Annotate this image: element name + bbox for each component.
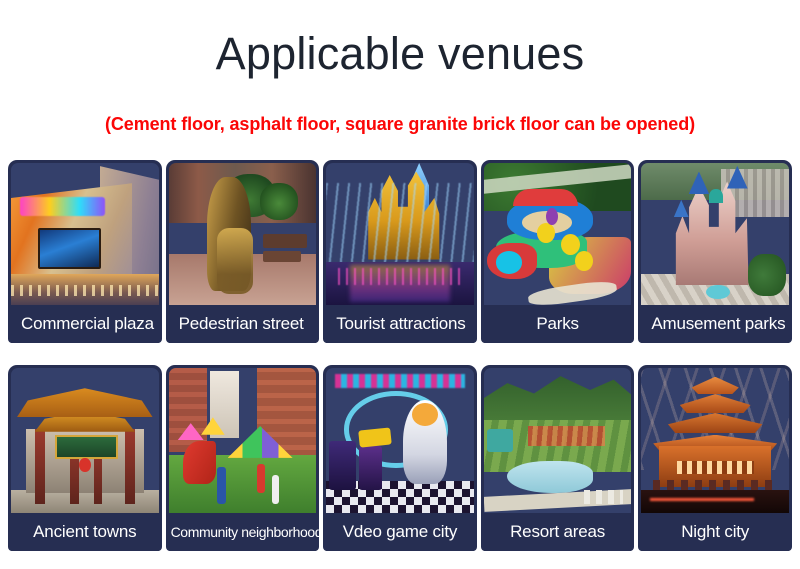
venue-label: Pedestrian street <box>169 305 317 343</box>
venue-card-video-game-city[interactable]: Vdeo game city <box>323 365 477 551</box>
venue-card-amusement-parks[interactable]: Amusement parks <box>638 160 792 343</box>
venue-label: Ancient towns <box>11 513 159 551</box>
venue-card-night-city[interactable]: Night city <box>638 365 792 551</box>
video-game-city-image <box>326 368 474 513</box>
resort-areas-image <box>484 368 632 513</box>
amusement-parks-image <box>641 163 789 305</box>
night-city-image <box>641 368 789 513</box>
venue-grid: Commercial plaza Pedestrian street Touri… <box>8 160 792 551</box>
venue-label: Night city <box>641 513 789 551</box>
venue-label: Vdeo game city <box>326 513 474 551</box>
parks-image <box>484 163 632 305</box>
ancient-towns-image <box>11 368 159 513</box>
venue-label: Amusement parks <box>641 305 789 343</box>
venue-card-parks[interactable]: Parks <box>481 160 635 343</box>
tourist-attractions-image <box>326 163 474 305</box>
venue-card-tourist-attractions[interactable]: Tourist attractions <box>323 160 477 343</box>
venue-label: Tourist attractions <box>326 305 474 343</box>
venue-label: Commercial plaza <box>11 305 159 343</box>
page-subtitle: (Cement floor, asphalt floor, square gra… <box>0 112 800 136</box>
community-neighborhoods-image <box>169 368 317 513</box>
applicable-venues-page: Applicable venues (Cement floor, asphalt… <box>0 0 800 569</box>
venue-label: Community neighborhoods <box>169 513 317 551</box>
venue-card-resort-areas[interactable]: Resort areas <box>481 365 635 551</box>
venue-label: Resort areas <box>484 513 632 551</box>
commercial-plaza-image <box>11 163 159 305</box>
pedestrian-street-image <box>169 163 317 305</box>
venue-row-2: Ancient towns Community neighborhoods Vd… <box>8 365 792 551</box>
venue-card-commercial-plaza[interactable]: Commercial plaza <box>8 160 162 343</box>
venue-label: Parks <box>484 305 632 343</box>
venue-row-1: Commercial plaza Pedestrian street Touri… <box>8 160 792 343</box>
venue-card-ancient-towns[interactable]: Ancient towns <box>8 365 162 551</box>
venue-card-pedestrian-street[interactable]: Pedestrian street <box>166 160 320 343</box>
page-title: Applicable venues <box>0 26 800 82</box>
venue-card-community-neighborhoods[interactable]: Community neighborhoods <box>166 365 320 551</box>
